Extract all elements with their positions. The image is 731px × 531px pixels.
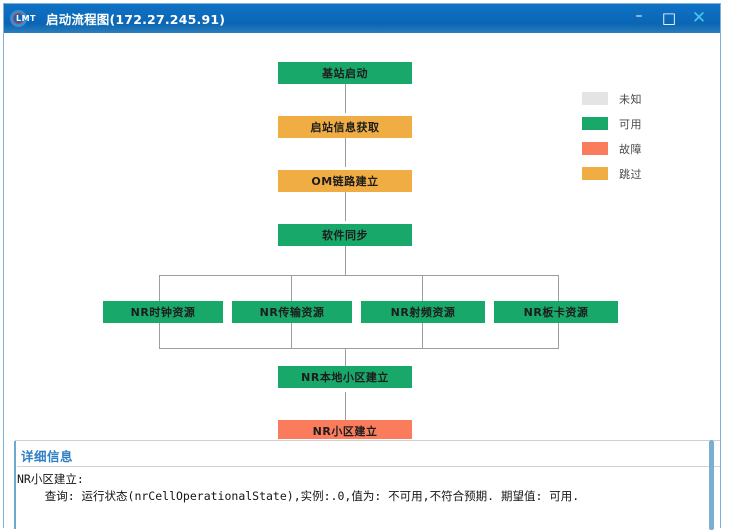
detail-panel-title: 详细信息 bbox=[21, 446, 73, 465]
application-window: LMT 启动流程图(172.27.245.91) – □ ✕ 基站启动 bbox=[3, 3, 721, 528]
flow-node-nr-transport-resource[interactable]: NR传输资源 bbox=[232, 301, 352, 323]
fanout-top-bus bbox=[159, 275, 559, 276]
flow-node-nr-rf-resource[interactable]: NR射频资源 bbox=[361, 301, 485, 323]
detail-line-2: 查询: 运行状态(nrCellOperationalState),实例:.0,值… bbox=[17, 489, 579, 503]
legend-label-available: 可用 bbox=[619, 116, 642, 132]
legend-swatch-fault bbox=[582, 142, 608, 155]
flow-node-base-station-start[interactable]: 基站启动 bbox=[278, 62, 412, 84]
legend-item-skipped: 跳过 bbox=[582, 161, 642, 186]
legend-swatch-unknown bbox=[582, 92, 608, 105]
fanin-rise-1 bbox=[159, 322, 160, 348]
flow-node-nr-local-cell-setup[interactable]: NR本地小区建立 bbox=[278, 366, 412, 388]
lmt-logo-text: LMT bbox=[16, 14, 36, 23]
fanout-drop-1 bbox=[159, 275, 160, 301]
legend-item-available: 可用 bbox=[582, 111, 642, 136]
connector-n3-n4 bbox=[345, 191, 346, 221]
connector-fanin-n5 bbox=[345, 348, 346, 366]
maximize-icon[interactable]: □ bbox=[654, 4, 684, 33]
legend-item-unknown: 未知 bbox=[582, 86, 642, 111]
detail-panel-text: NR小区建立: 查询: 运行状态(nrCellOperationalState)… bbox=[17, 471, 706, 505]
window-title: 启动流程图(172.27.245.91) bbox=[46, 9, 225, 28]
flow-node-om-link-setup[interactable]: OM链路建立 bbox=[278, 170, 412, 192]
legend-item-fault: 故障 bbox=[582, 136, 642, 161]
minimize-icon[interactable]: – bbox=[624, 2, 654, 36]
fanin-rise-3 bbox=[422, 322, 423, 348]
window-controls: – □ ✕ bbox=[624, 4, 720, 33]
fanin-bottom-bus bbox=[159, 348, 559, 349]
fanout-drop-3 bbox=[422, 275, 423, 301]
flowchart-canvas: 基站启动 启站信息获取 OM链路建立 软件同步 NR时钟资源 NR传输资源 NR… bbox=[4, 33, 720, 439]
flow-node-nr-board-resource[interactable]: NR板卡资源 bbox=[494, 301, 618, 323]
flow-node-station-info-fetch[interactable]: 启站信息获取 bbox=[278, 116, 412, 138]
fanin-rise-2 bbox=[291, 322, 292, 348]
legend-label-fault: 故障 bbox=[619, 141, 642, 157]
detail-panel-accent-bar bbox=[14, 441, 16, 529]
close-icon[interactable]: ✕ bbox=[684, 4, 714, 33]
detail-scrollbar-thumb[interactable] bbox=[709, 440, 714, 530]
title-bar[interactable]: LMT 启动流程图(172.27.245.91) – □ ✕ bbox=[4, 4, 720, 33]
fanout-drop-4 bbox=[558, 275, 559, 301]
flow-node-nr-cell-setup[interactable]: NR小区建立 bbox=[278, 420, 412, 439]
legend-swatch-available bbox=[582, 117, 608, 130]
detail-line-1: NR小区建立: bbox=[17, 472, 84, 486]
connector-n4-fanout bbox=[345, 245, 346, 275]
flow-node-software-sync[interactable]: 软件同步 bbox=[278, 224, 412, 246]
detail-title-rule bbox=[17, 466, 720, 467]
connector-n1-n2 bbox=[345, 83, 346, 113]
connector-n2-n3 bbox=[345, 137, 346, 167]
status-legend: 未知 可用 故障 跳过 bbox=[582, 86, 642, 186]
fanout-drop-2 bbox=[291, 275, 292, 301]
lmt-logo-icon: LMT bbox=[10, 10, 42, 28]
legend-label-unknown: 未知 bbox=[619, 91, 642, 107]
fanin-rise-4 bbox=[558, 322, 559, 348]
flow-node-nr-clock-resource[interactable]: NR时钟资源 bbox=[103, 301, 223, 323]
detail-panel-divider bbox=[15, 440, 720, 441]
detail-panel: 详细信息 NR小区建立: 查询: 运行状态(nrCellOperationalS… bbox=[4, 439, 720, 529]
legend-swatch-skipped bbox=[582, 167, 608, 180]
legend-label-skipped: 跳过 bbox=[619, 166, 642, 182]
